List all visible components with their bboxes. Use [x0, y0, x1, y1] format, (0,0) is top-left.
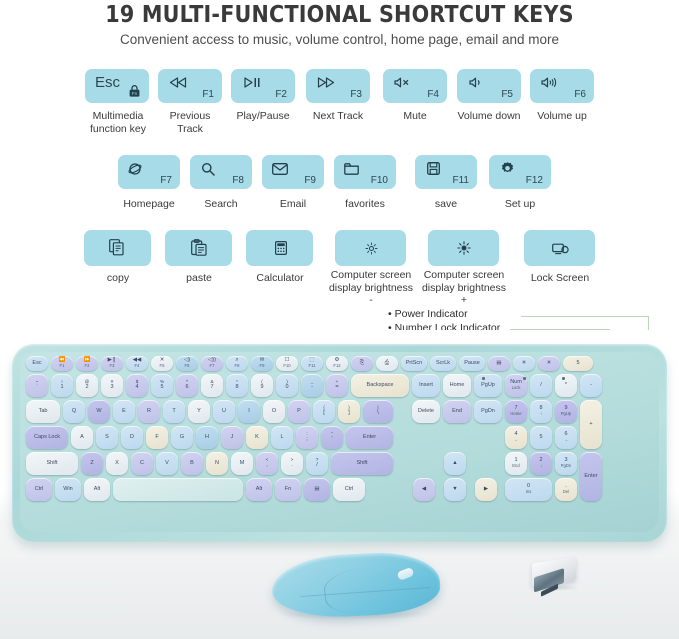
keyboard-key[interactable]: Y: [188, 400, 210, 423]
keyboard-key[interactable]: ⏩F2: [76, 356, 98, 371]
save-icon: [427, 162, 440, 175]
keyboard-key[interactable]: &7: [201, 374, 223, 397]
callout-label: Power Indicator: [395, 308, 468, 320]
shortcut-card-setup[interactable]: F12: [489, 155, 551, 189]
keyboard-key[interactable]: Delete: [412, 400, 440, 423]
keyboard-key[interactable]: Enter: [580, 452, 602, 501]
shortcut-card-brightness-down[interactable]: [335, 230, 406, 266]
shortcut-fn-label: F1: [202, 89, 214, 100]
keyboard-key[interactable]: Pause: [459, 356, 485, 371]
keyboard-key[interactable]: $4: [126, 374, 148, 397]
keyboard-key[interactable]: 8↑: [530, 400, 552, 423]
shortcut-fn-label: F8: [232, 175, 244, 186]
shortcut-label-lock-screen: Lock Screen: [516, 272, 604, 285]
keyboard-key[interactable]: D: [121, 426, 143, 449]
keyboard-key[interactable]: Alt: [246, 478, 272, 501]
keyboard-key[interactable]: I: [238, 400, 260, 423]
shortcut-label-volume-up: Volume up: [520, 110, 604, 123]
keyboard-key[interactable]: C: [131, 452, 153, 475]
keyboard-key[interactable]: /: [530, 374, 552, 397]
keyboard-key[interactable]: ⬚F11: [301, 356, 323, 371]
keyboard-key[interactable]: Enter: [346, 426, 393, 449]
keyboard-key[interactable]: Fn: [275, 478, 301, 501]
shortcut-label-previous-track: Previous Track: [148, 110, 232, 135]
play-pause-icon: [244, 77, 261, 88]
shortcut-card-calculator[interactable]: [246, 230, 313, 266]
favorites-icon: [344, 163, 359, 175]
keyboard-key[interactable]: X: [106, 452, 128, 475]
keyboard-key[interactable]: B: [181, 452, 203, 475]
shortcut-label-brightness-up: Computer screen display brightness +: [420, 269, 508, 307]
bullet-icon: •: [388, 308, 392, 320]
page-title: 19 MULTI-FUNCTIONAL SHORTCUT KEYS: [0, 2, 679, 28]
email-icon: [272, 163, 288, 175]
keyboard-key[interactable]: Q: [63, 400, 85, 423]
keyboard-key[interactable]: ὚5: [563, 356, 593, 371]
keyboard-key[interactable]: E: [113, 400, 135, 423]
esc-lock-icon: Fn: [129, 85, 140, 97]
keyboard-key[interactable]: T: [163, 400, 185, 423]
led-caps-lock-indicator: [482, 377, 485, 380]
keyboard-key[interactable]: W: [88, 400, 110, 423]
keyboard-key[interactable]: O: [263, 400, 285, 423]
keyboard-key[interactable]: !1: [51, 374, 73, 397]
keyboard-key[interactable]: >.: [281, 452, 303, 475]
product-photo: Esc⏪F1⏩F2▶❙F3◀◀F4✕F5◁)F6◁))F7⌕F8✉F9☐F10⬚…: [0, 330, 679, 639]
shortcut-label-mute: Mute: [373, 110, 457, 123]
shortcut-fn-label: F4: [427, 89, 439, 100]
keyboard-key[interactable]: ◁))F7: [201, 356, 223, 371]
copy-icon: [109, 239, 125, 256]
keyboard-key[interactable]: Ctrl: [26, 478, 52, 501]
keyboard-key[interactable]: |\: [363, 400, 393, 423]
keyboard-key[interactable]: ☀: [513, 356, 535, 371]
keyboard-key[interactable]: L: [271, 426, 293, 449]
calculator-icon: [275, 241, 287, 255]
keyboard-key[interactable]: PgUp: [474, 374, 502, 397]
keyboard-key[interactable]: {[: [313, 400, 335, 423]
keyboard-key[interactable]: J: [221, 426, 243, 449]
keyboard-key[interactable]: ◀: [413, 478, 435, 501]
shortcut-label-next-track: Next Track: [296, 110, 380, 123]
led-power-indicator: [562, 377, 565, 380]
keyboard-key[interactable]: 2↓: [530, 452, 552, 475]
shortcut-card-next-track[interactable]: F3: [306, 69, 370, 103]
mute-icon: [394, 77, 412, 88]
keyboard-deck: Esc⏪F1⏩F2▶❙F3◀◀F4✕F5◁)F6◁))F7⌕F8✉F9☐F10⬚…: [20, 352, 659, 532]
dongle-body: [532, 557, 576, 588]
keyboard-key[interactable]: 6→: [555, 426, 577, 449]
keyboard-key[interactable]: R: [138, 400, 160, 423]
keyboard-key[interactable]: (9: [251, 374, 273, 397]
keyboard-key[interactable]: ▤: [488, 356, 510, 371]
keyboard-key[interactable]: M: [231, 452, 253, 475]
callout-power-indicator: • Power Indicator: [388, 308, 500, 322]
shortcut-label-volume-down: Volume down: [447, 110, 531, 123]
keyboard-key[interactable]: [113, 478, 243, 501]
shortcut-label-play-pause: Play/Pause: [221, 110, 305, 123]
keyboard-key[interactable]: #3: [101, 374, 123, 397]
keyboard-key[interactable]: PrtScn: [401, 356, 427, 371]
search-icon: [201, 162, 215, 176]
keyboard-key[interactable]: )0: [276, 374, 298, 397]
shortcut-label-paste: paste: [157, 272, 241, 285]
shortcut-card-search[interactable]: F8: [190, 155, 252, 189]
keyboard-key[interactable]: Insert: [412, 374, 440, 397]
keyboard-key[interactable]: _-: [301, 374, 323, 397]
keyboard-key[interactable]: Esc: [26, 356, 48, 371]
keyboard-key[interactable]: ?/: [306, 452, 328, 475]
shortcut-fn-label: F2: [275, 89, 287, 100]
keyboard-key[interactable]: PgDn: [474, 400, 502, 423]
keyboard-key[interactable]: P: [288, 400, 310, 423]
keyboard-key[interactable]: ▲: [444, 452, 466, 475]
keyboard-key[interactable]: +: [580, 400, 602, 449]
shortcut-label-setup: Set up: [479, 198, 561, 211]
keyboard-key[interactable]: V: [156, 452, 178, 475]
keyboard-key[interactable]: Backspace: [351, 374, 409, 397]
paste-icon: [191, 239, 207, 256]
shortcut-card-previous-track[interactable]: F1: [158, 69, 222, 103]
keyboard-key[interactable]: :;: [296, 426, 318, 449]
shortcut-label-brightness-down: Computer screen display brightness -: [327, 269, 415, 307]
keyboard-key[interactable]: ⎙: [376, 356, 398, 371]
keyboard-key[interactable]: ⎘: [351, 356, 373, 371]
keyboard-key[interactable]: Caps Lock: [26, 426, 68, 449]
keyboard-key[interactable]: 5: [530, 426, 552, 449]
usb-receiver[interactable]: [528, 552, 584, 596]
keyboard-key[interactable]: ScrLk: [430, 356, 456, 371]
shortcut-card-copy[interactable]: [84, 230, 151, 266]
keyboard-key[interactable]: -: [580, 374, 602, 397]
shortcut-card-mute[interactable]: F4: [383, 69, 447, 103]
keyboard-key[interactable]: ▤: [304, 478, 330, 501]
keyboard-key[interactable]: ◁)F6: [176, 356, 198, 371]
shortcut-card-save[interactable]: F11: [415, 155, 477, 189]
shortcut-fn-label: F11: [453, 175, 470, 186]
svg-text:Fn: Fn: [132, 91, 138, 96]
shortcut-fn-label: F12: [526, 175, 543, 186]
keyboard-key[interactable]: ▶❙F3: [101, 356, 123, 371]
keyboard-key[interactable]: 1End: [505, 452, 527, 475]
shortcut-label-homepage: Homepage: [108, 198, 190, 211]
shortcut-card-homepage[interactable]: F7: [118, 155, 180, 189]
keyboard-key[interactable]: K: [246, 426, 268, 449]
keyboard-key[interactable]: S: [96, 426, 118, 449]
keyboard-key[interactable]: "': [321, 426, 343, 449]
shortcut-fn-label: F10: [371, 175, 388, 186]
keyboard-key[interactable]: Home: [443, 374, 471, 397]
keyboard-key[interactable]: *8: [226, 374, 248, 397]
shortcut-label-copy: copy: [76, 272, 160, 285]
setup-gear-icon: [500, 161, 515, 176]
volume-up-icon: [541, 77, 559, 88]
shortcut-label-email: Email: [252, 198, 334, 211]
keyboard-key[interactable]: +=: [326, 374, 348, 397]
keyboard-key[interactable]: A: [71, 426, 93, 449]
keyboard-key[interactable]: ☀: [538, 356, 560, 371]
brightness-up-icon: [457, 241, 471, 255]
keyboard-key[interactable]: 4←: [505, 426, 527, 449]
shortcut-label-calculator: Calculator: [238, 272, 322, 285]
keyboard[interactable]: Esc⏪F1⏩F2▶❙F3◀◀F4✕F5◁)F6◁))F7⌕F8✉F9☐F10⬚…: [12, 344, 667, 542]
previous-track-icon: [169, 77, 187, 88]
keyboard-key[interactable]: F: [146, 426, 168, 449]
leader-line-power: [521, 316, 649, 317]
keyboard-key[interactable]: ▶: [475, 478, 497, 501]
homepage-icon: [128, 162, 143, 176]
brightness-down-icon: [365, 242, 378, 255]
shortcut-fn-label: F9: [304, 175, 316, 186]
keyboard-key[interactable]: @2: [76, 374, 98, 397]
keyboard-key[interactable]: ⚙F12: [326, 356, 348, 371]
shortcut-card-lock-screen[interactable]: [524, 230, 595, 266]
keyboard-key[interactable]: Tab: [26, 400, 60, 423]
keyboard-key[interactable]: .Del: [555, 478, 577, 501]
keyboard-key[interactable]: G: [171, 426, 193, 449]
shortcut-card-brightness-up[interactable]: [428, 230, 499, 266]
shortcut-card-email[interactable]: F9: [262, 155, 324, 189]
shortcut-label-favorites: favorites: [324, 198, 406, 211]
keyboard-key[interactable]: ~`: [26, 374, 48, 397]
keyboard-key[interactable]: 7Home: [505, 400, 527, 423]
wireless-mouse[interactable]: [272, 544, 440, 624]
keyboard-key[interactable]: ⌕F8: [226, 356, 248, 371]
keyboard-key[interactable]: 9PgUp: [555, 400, 577, 423]
shortcut-card-paste[interactable]: [165, 230, 232, 266]
next-track-icon: [317, 77, 335, 88]
shortcut-fn-label: F7: [160, 175, 172, 186]
shortcut-fn-label: F5: [501, 89, 513, 100]
keyboard-key[interactable]: ✕F5: [151, 356, 173, 371]
keyboard-key[interactable]: Ctrl: [333, 478, 365, 501]
shortcut-card-volume-up[interactable]: F6: [530, 69, 594, 103]
keyboard-key[interactable]: Z: [81, 452, 103, 475]
shortcut-card-esc[interactable]: Esc Fn: [85, 69, 149, 103]
volume-down-icon: [469, 77, 486, 88]
shortcut-label-save: save: [405, 198, 487, 211]
keyboard-key[interactable]: N: [206, 452, 228, 475]
keyboard-key[interactable]: *: [555, 374, 577, 397]
shortcut-esc-label: Esc: [95, 74, 120, 91]
lock-screen-icon: [552, 242, 569, 255]
keyboard-key[interactable]: %5: [151, 374, 173, 397]
keyboard-key[interactable]: ◀◀F4: [126, 356, 148, 371]
keyboard-key[interactable]: Alt: [84, 478, 110, 501]
shortcut-fn-label: F3: [350, 89, 362, 100]
shortcut-label-search: Search: [180, 198, 262, 211]
keyboard-key[interactable]: 0Ins: [505, 478, 552, 501]
keyboard-key[interactable]: }]: [338, 400, 360, 423]
shortcut-fn-label: F6: [574, 89, 586, 100]
keyboard-key[interactable]: Shift: [26, 452, 78, 475]
keyboard-key[interactable]: Shift: [331, 452, 393, 475]
shortcut-card-volume-down[interactable]: F5: [457, 69, 521, 103]
led-number-lock-indicator: [523, 377, 526, 380]
keyboard-key[interactable]: ☐F10: [276, 356, 298, 371]
keyboard-key[interactable]: ▼: [444, 478, 466, 501]
keyboard-key[interactable]: U: [213, 400, 235, 423]
page-subtitle: Convenient access to music, volume contr…: [0, 32, 679, 47]
keyboard-key[interactable]: ✉F9: [251, 356, 273, 371]
keyboard-key[interactable]: ^6: [176, 374, 198, 397]
keyboard-key[interactable]: ⏪F1: [51, 356, 73, 371]
keyboard-key[interactable]: Win: [55, 478, 81, 501]
product-infographic: 19 MULTI-FUNCTIONAL SHORTCUT KEYS Conven…: [0, 0, 679, 639]
keyboard-key[interactable]: H: [196, 426, 218, 449]
shortcut-card-play-pause[interactable]: F2: [231, 69, 295, 103]
keyboard-key[interactable]: 3PgDn: [555, 452, 577, 475]
keyboard-key[interactable]: End: [443, 400, 471, 423]
shortcut-card-favorites[interactable]: F10: [334, 155, 396, 189]
keyboard-key[interactable]: <,: [256, 452, 278, 475]
